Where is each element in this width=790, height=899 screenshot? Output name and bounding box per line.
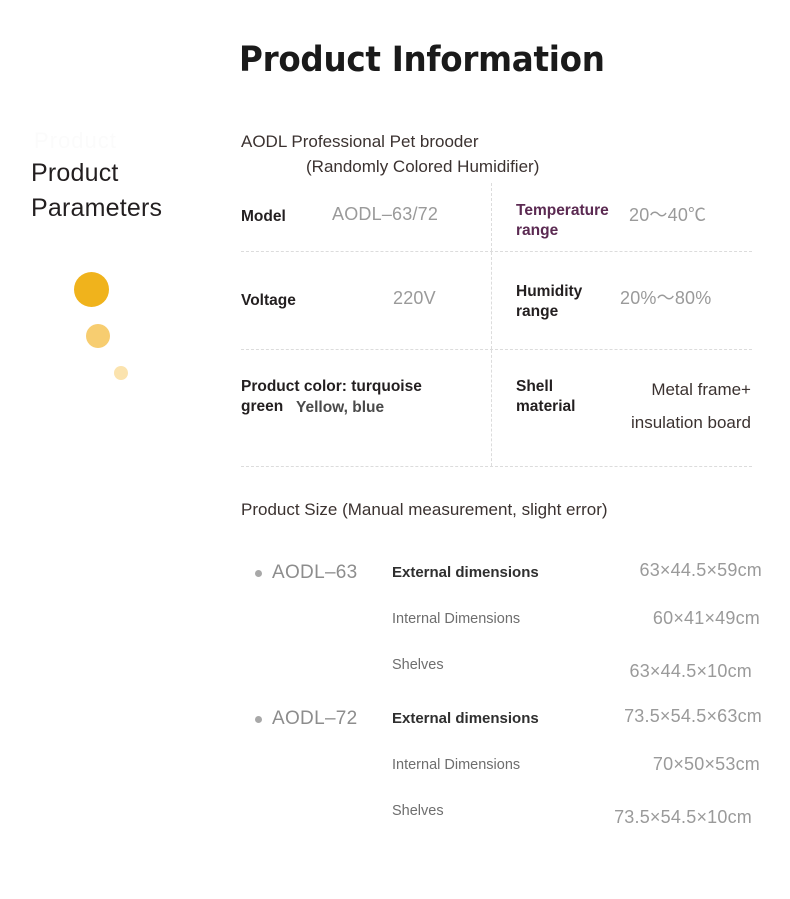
param-label-temperature-range: Temperature range bbox=[516, 201, 621, 241]
param-label-model: Model bbox=[241, 207, 286, 227]
param-value-humidity-range: 20%～80% bbox=[620, 286, 711, 310]
table-cell-humidity-range: Humidity range 20%～80% bbox=[491, 252, 752, 349]
param-value-product-color: Yellow, blue bbox=[296, 399, 384, 417]
sidebar-label-line2: Parameters bbox=[31, 194, 162, 222]
table-cell-model: Model AODL–63/72 bbox=[241, 183, 491, 251]
amber-dot-large bbox=[74, 272, 109, 307]
table-row: Product color: turquoise green Yellow, b… bbox=[241, 349, 752, 466]
page-title: Product Information bbox=[239, 40, 605, 80]
param-label-humidity-range-line2: range bbox=[516, 303, 558, 320]
param-label-temperature-range-line1: Temperature bbox=[516, 202, 609, 219]
param-label-humidity-range-line1: Humidity bbox=[516, 283, 582, 300]
param-label-shell-material-line1: Shell bbox=[516, 378, 553, 395]
param-value-voltage: 220V bbox=[393, 286, 436, 310]
param-value-model: AODL–63/72 bbox=[332, 202, 438, 226]
size-value-internal-63: 60×41×49cm bbox=[485, 608, 760, 629]
decorative-dots-group bbox=[66, 268, 156, 388]
table-row: Voltage 220V Humidity range 20%～80% bbox=[241, 251, 752, 349]
table-cell-temperature-range: Temperature range 20～40℃ bbox=[491, 183, 752, 251]
size-label-shelves-72: Shelves bbox=[392, 803, 444, 819]
amber-dot-small bbox=[114, 366, 128, 380]
subtitle-line1: AODL Professional Pet brooder bbox=[241, 132, 479, 151]
size-value-external-63: 63×44.5×59cm bbox=[485, 560, 762, 581]
size-group-aodl-72: AODL–72 External dimensions 73.5×54.5×63… bbox=[255, 704, 755, 848]
table-cell-voltage: Voltage 220V bbox=[241, 252, 491, 349]
param-value-temperature-range: 20～40℃ bbox=[629, 203, 706, 227]
param-label-humidity-range: Humidity range bbox=[516, 282, 621, 322]
table-row: Model AODL–63/72 Temperature range 20～40… bbox=[241, 183, 752, 251]
sidebar-label-line1: Product bbox=[31, 159, 119, 187]
param-label-voltage: Voltage bbox=[241, 291, 296, 311]
param-value-shell-material-line1: Metal frame+ bbox=[651, 380, 751, 399]
product-subtitle: AODL Professional Pet brooder (Randomly … bbox=[241, 129, 741, 179]
param-label-temperature-range-line2: range bbox=[516, 222, 558, 239]
size-row-shelves-72: Shelves 73.5×54.5×10cm bbox=[255, 800, 755, 848]
size-row-shelves-63: Shelves 63×44.5×10cm bbox=[255, 654, 755, 702]
amber-dot-medium bbox=[86, 324, 110, 348]
size-row-internal-72: Internal Dimensions 70×50×53cm bbox=[255, 752, 755, 800]
param-value-shell-material: Metal frame+ insulation board bbox=[601, 373, 751, 439]
size-row-internal-63: Internal Dimensions 60×41×49cm bbox=[255, 606, 755, 654]
size-value-shelves-72: 73.5×54.5×10cm bbox=[485, 807, 752, 828]
size-value-internal-72: 70×50×53cm bbox=[485, 754, 760, 775]
size-value-external-72: 73.5×54.5×63cm bbox=[485, 706, 762, 727]
subtitle-line2: (Randomly Colored Humidifier) bbox=[241, 154, 741, 179]
param-label-shell-material-line2: material bbox=[516, 398, 575, 415]
watermark-text: Product bbox=[34, 128, 234, 158]
table-cell-shell-material: Shell material Metal frame+ insulation b… bbox=[491, 350, 752, 466]
size-row-external-72: External dimensions 73.5×54.5×63cm bbox=[255, 704, 755, 752]
param-value-shell-material-line2: insulation board bbox=[631, 413, 751, 432]
size-row-external-63: External dimensions 63×44.5×59cm bbox=[255, 558, 755, 606]
size-section-heading: Product Size (Manual measurement, slight… bbox=[241, 500, 608, 520]
section-label-product-parameters: Product Parameters bbox=[31, 156, 226, 226]
size-value-shelves-63: 63×44.5×10cm bbox=[485, 661, 752, 682]
parameters-table: Model AODL–63/72 Temperature range 20～40… bbox=[241, 183, 752, 467]
size-group-aodl-63: AODL–63 External dimensions 63×44.5×59cm… bbox=[255, 558, 755, 702]
product-information-page: Product Product Parameters Product Infor… bbox=[0, 0, 790, 899]
size-label-shelves-63: Shelves bbox=[392, 657, 444, 673]
table-cell-product-color: Product color: turquoise green Yellow, b… bbox=[241, 350, 491, 466]
